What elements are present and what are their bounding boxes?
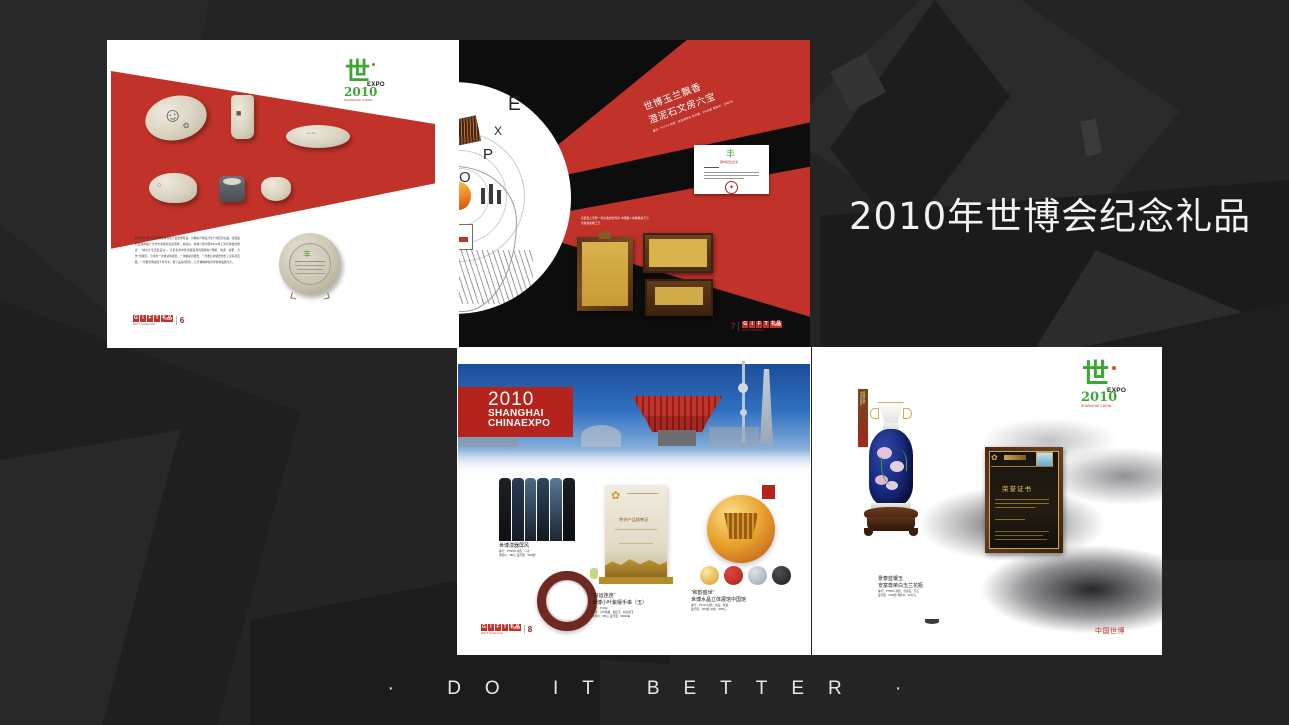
slide-tagline: · DO IT BETTER ·	[0, 678, 1289, 700]
page6-content: 世 EXPO 2010 SHANGHAI CHINA ☺ ✿ ■ ∼∼ ○	[111, 43, 458, 344]
artifact-commemorative-plate: 丰	[279, 233, 341, 295]
gift-letter-blocks-8: G I F T 礼品	[481, 624, 521, 631]
expo-2010-banner: 2010 SHANGHAI CHINAEXPO	[458, 387, 573, 437]
honor-certificate-plaque: ✿ 荣誉证书	[985, 447, 1063, 553]
expo-city-9: SHANGHAI CHINA	[1081, 404, 1111, 408]
caption-bracelet-quote: “好运连连”	[592, 593, 697, 600]
vase-wood-base-bottom	[867, 517, 915, 531]
caption-spec2-crystal: 发行量：2010套 价格：2680元	[691, 608, 791, 612]
caption-title-main: 世博水晶立体展馆中国馆	[691, 597, 791, 604]
product-crystal-pavilion	[707, 495, 775, 563]
vase-handle-right	[903, 408, 912, 419]
gift-letter-g: G	[133, 315, 139, 322]
banner-chinaexpo: CHINAEXPO	[488, 419, 573, 429]
caption-crystal-pavilion: “和韵盛世” 世博水晶立体展馆中国馆 编号：PY213 材质：水晶、黄铜 发行量…	[691, 590, 791, 612]
page9-seal-text: 中国世博	[1095, 626, 1125, 636]
gift-letter-t: T	[154, 315, 160, 322]
gift-cn-8: 礼品	[509, 624, 521, 631]
caption-title: 世博漆器屏风	[499, 543, 589, 550]
circle-letter-p: P	[483, 146, 493, 163]
caption-bracelet: “好运连连” 世博小叶紫檀手串（玉） 编号：PY212 材质：小叶紫檀、和田玉、…	[592, 593, 697, 619]
caption-vase-title2: 安富尊荣白玉兰花瓶	[878, 583, 988, 590]
brochure-page-8[interactable]: 2010 SHANGHAI CHINAEXPO 世博漆器屏风 编号：PT5005…	[457, 347, 811, 655]
product-gift-box-open	[643, 233, 713, 273]
circle-letter-e: E	[508, 94, 521, 116]
gift-letter-f-8: F	[495, 624, 501, 631]
gift-logo-page7: 7 G I F T 礼品 GIFT Collection	[731, 321, 782, 332]
gift-letter-i-7: I	[749, 321, 755, 328]
gift-sub: GIFT Collection	[133, 322, 173, 326]
caption-bracelet-main: 世博小叶紫檀手串（玉）	[592, 600, 697, 607]
certificate-expo-mark: 丰	[726, 150, 738, 160]
certificate-heading: 荣誉纪念证书	[720, 160, 738, 164]
vase-handle-left	[870, 408, 879, 419]
circle-letter-x: X	[494, 124, 502, 138]
plaque-title: 荣誉证书	[1002, 483, 1032, 493]
caption-lacquer-screen: 世博漆器屏风 编号：PT5005 材质：乌木 零售价：980元 发行量：5000…	[499, 543, 589, 558]
caption-vase-spec2: 发行量：2010套 零售价：6270元	[878, 594, 988, 598]
plate-expo-mark: 丰	[303, 251, 311, 259]
caption-vase-title1: 景泰蓝镶玉	[878, 576, 988, 583]
expo-logo: 世 EXPO 2010 SHANGHAI CHINA	[339, 61, 391, 105]
page-number-7: 7	[731, 322, 735, 331]
artifact-ceramic-brush-pot: ■	[231, 95, 254, 139]
caption-spec2: 零售价：980元 发行量：5000套	[499, 554, 589, 558]
product-framed-plaque	[577, 237, 633, 311]
gift-letter-f-7: F	[756, 321, 762, 328]
brochure-page-6[interactable]: 世 EXPO 2010 SHANGHAI CHINA ☺ ✿ ■ ∼∼ ○	[107, 40, 459, 348]
gift-divider-8	[524, 625, 525, 634]
circle-illustration	[459, 82, 571, 314]
expo-mark-glyph: 世	[345, 61, 369, 82]
gift-cn-7: 礼品	[770, 321, 782, 328]
banner-year: 2010	[488, 391, 573, 409]
brochure-page-9[interactable]: 世 EXPO 2010 SHANGHAI CHINA 中国非物质文化遗产	[812, 347, 1162, 655]
brochure-page-7[interactable]: 世博玉兰飘香 澄泥石文房六宝 编号：PY770 材质：松玉澄泥石 发行量：200…	[459, 40, 810, 348]
expo-logo-dot-9	[1112, 366, 1116, 370]
product-licensed-certificate: ✿ 特许产品销售证	[605, 485, 667, 577]
gift-letter-g-8: G	[481, 624, 487, 631]
crystal-seal-icon	[762, 485, 775, 499]
slide-canvas: 世 EXPO 2010 SHANGHAI CHINA ☺ ✿ ■ ∼∼ ○	[0, 0, 1289, 725]
page6-body-text: 作为2010年上海世博会特许生产商及零售商，为精彩世博设计生产的纪念礼品，深受政…	[135, 236, 240, 266]
artifact-ink-jar	[219, 176, 245, 202]
coin-silver	[748, 566, 767, 585]
product-lacquer-screen	[499, 478, 575, 541]
product-cloisonne-jade-vase	[862, 402, 920, 542]
gift-sub-7: GIFT Collection	[742, 328, 782, 332]
expo-year-9: 2010	[1081, 390, 1117, 405]
coin-gold	[700, 566, 719, 585]
device-screen	[459, 224, 473, 250]
certificate-stand-base	[599, 577, 673, 584]
gift-letter-blocks: G I F T 礼品	[133, 315, 173, 322]
product-gift-box-closed	[645, 279, 713, 316]
gift-logo-page6: G I F T 礼品 GIFT Collection 6	[133, 315, 184, 326]
expo-logo-dot	[372, 63, 375, 66]
artifact-oval-ink-stone: ∼∼	[286, 125, 350, 148]
caption-vase: 景泰蓝镶玉 安富尊荣白玉兰花瓶 编号：PT5007 材质：景泰蓝、玉石 发行量：…	[878, 576, 988, 598]
artifact-clay-teapot: ○	[149, 173, 197, 203]
expo-year: 2010	[344, 85, 377, 99]
caption-title-quote: “和韵盛世”	[691, 590, 791, 597]
expo-mark-glyph-9: 世	[1082, 364, 1108, 387]
gift-letter-i: I	[140, 315, 146, 322]
artifact-water-pot	[261, 177, 291, 201]
page-title: 2010年世博会纪念礼品	[849, 186, 1251, 240]
gift-letter-t-8: T	[502, 624, 508, 631]
page-number-8: 8	[528, 625, 532, 634]
certificate-title-8: 特许产品销售证	[619, 517, 648, 523]
coin-red	[724, 566, 743, 585]
coin-black	[772, 566, 791, 585]
gift-cn: 礼品	[161, 315, 173, 322]
gift-sub-8: GIFT Collection	[481, 631, 521, 635]
skyline-dome	[581, 425, 621, 447]
expo-city: SHANGHAI CHINA	[344, 98, 373, 102]
ink-boat-icon	[925, 619, 939, 624]
gift-divider-7	[738, 322, 739, 331]
certificate-seal: ✦	[725, 181, 738, 194]
gift-letter-blocks-7: G I F T 礼品	[742, 321, 782, 328]
gift-letter-g-7: G	[742, 321, 748, 328]
certificate-card: 丰 荣誉纪念证书 ✦	[694, 145, 769, 194]
gift-letter-t-7: T	[763, 321, 769, 328]
page7-caption: 直面世上至尊一等古典式的传承 中国数人的精致技艺与金属独和制工艺	[581, 216, 651, 226]
gift-divider	[176, 316, 177, 325]
page-number-6: 6	[180, 316, 184, 325]
caption-bracelet-spec3: 零售价：680元 发行量：68000串	[592, 615, 697, 619]
product-sandalwood-bracelet	[537, 571, 597, 631]
skyline-right	[709, 427, 759, 447]
gift-letter-i-8: I	[488, 624, 494, 631]
gift-logo-page8: G I F T 礼品 GIFT Collection 8	[481, 624, 532, 635]
expo-logo-page9: 世 EXPO 2010 SHANGHAI CHINA	[1076, 364, 1134, 412]
circle-letter-o: O	[459, 169, 471, 186]
gift-letter-f: F	[147, 315, 153, 322]
